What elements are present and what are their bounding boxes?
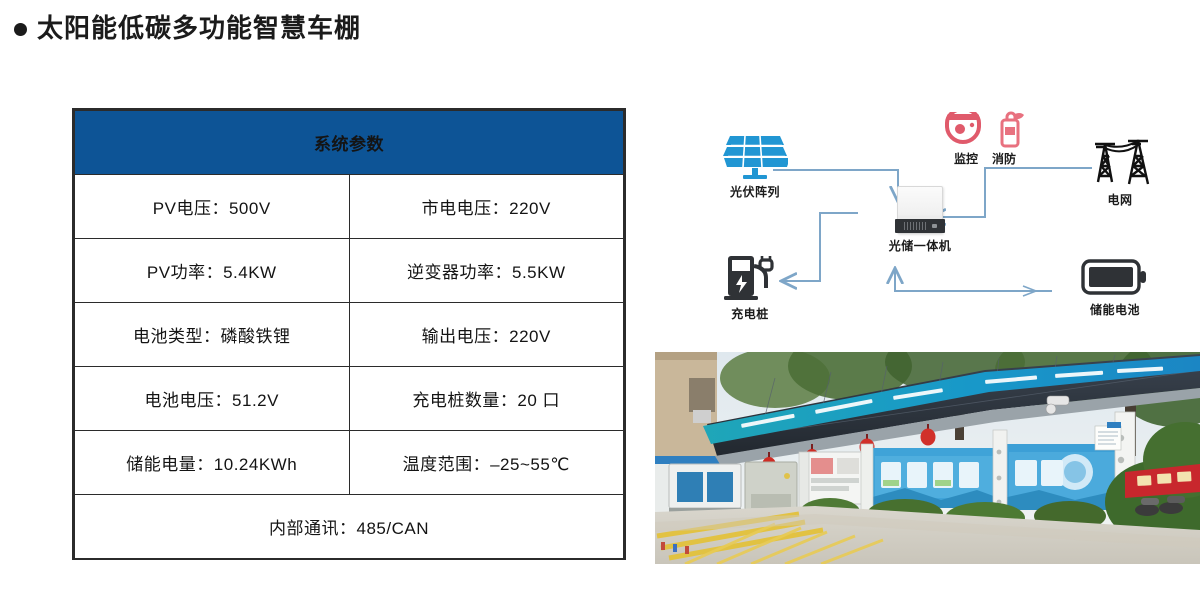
battery-storage-icon — [1080, 256, 1150, 298]
spec-cell-battery-type: 电池类型：磷酸铁锂 — [75, 303, 350, 367]
diagram-label-charger: 充电桩 — [731, 305, 769, 322]
diagram-label-fire: 消防 — [992, 150, 1016, 167]
power-tower-icon — [1082, 134, 1158, 188]
carport-photo-illustration — [655, 352, 1200, 564]
diagram-label-monitor: 监控 — [954, 150, 978, 167]
spec-cell-battery-voltage: 电池电压：51.2V — [75, 367, 350, 431]
system-diagram: 光伏阵列 监控 消防 — [655, 108, 1200, 340]
page-title: 太阳能低碳多功能智慧车棚 — [14, 14, 361, 43]
diagram-node-charger: 充电桩 — [690, 252, 810, 322]
table-row: 电池类型：磷酸铁锂 输出电压：220V — [75, 303, 624, 367]
table-row: 电池电压：51.2V 充电桩数量：20 口 — [75, 367, 624, 431]
spec-cell-internal-comm: 内部通讯：485/CAN — [75, 495, 624, 559]
carport-photo — [655, 352, 1200, 564]
table-row: PV功率：5.4KW 逆变器功率：5.5KW — [75, 239, 624, 303]
diagram-label-pv: 光伏阵列 — [730, 183, 780, 200]
diagram-node-battery: 储能电池 — [1055, 256, 1175, 318]
fire-extinguisher-icon — [993, 110, 1027, 148]
table-row: 内部通讯：485/CAN — [75, 495, 624, 559]
table-row: PV电压：500V 市电电压：220V — [75, 175, 624, 239]
spec-cell-output-voltage: 输出电压：220V — [349, 303, 624, 367]
spec-cell-pv-power: PV功率：5.4KW — [75, 239, 350, 303]
spec-cell-inverter-power: 逆变器功率：5.5KW — [349, 239, 624, 303]
spec-table: 系统参数 PV电压：500V 市电电压：220V PV功率：5.4KW 逆变器功… — [72, 108, 626, 560]
diagram-node-inverter: 光储一体机 — [860, 186, 980, 254]
spec-cell-charger-count: 充电桩数量：20 口 — [349, 367, 624, 431]
diagram-label-grid: 电网 — [1107, 191, 1132, 208]
slide-page: 太阳能低碳多功能智慧车棚 系统参数 PV电压：500V 市电电压：220V PV… — [0, 0, 1200, 605]
spec-cell-storage-capacity: 储能电量：10.24KWh — [75, 431, 350, 495]
spec-table-header: 系统参数 — [75, 111, 624, 175]
spec-cell-grid-voltage: 市电电压：220V — [349, 175, 624, 239]
diagram-label-battery: 储能电池 — [1090, 301, 1140, 318]
inverter-cabinet-icon — [897, 186, 943, 234]
diagram-label-inverter: 光储一体机 — [889, 237, 952, 254]
solar-panel-icon — [722, 132, 788, 180]
cctv-camera-icon — [943, 112, 983, 148]
diagram-node-grid: 电网 — [1060, 134, 1180, 208]
charging-pile-icon — [722, 252, 778, 302]
spec-cell-pv-voltage: PV电压：500V — [75, 175, 350, 239]
page-title-text: 太阳能低碳多功能智慧车棚 — [37, 14, 361, 43]
diagram-node-pv: 光伏阵列 — [695, 132, 815, 200]
diagram-node-monitor-fire: 监控 消防 — [915, 110, 1055, 167]
bullet-dot-icon — [14, 23, 27, 36]
table-row: 储能电量：10.24KWh 温度范围：–25~55℃ — [75, 431, 624, 495]
spec-cell-temp-range: 温度范围：–25~55℃ — [349, 431, 624, 495]
